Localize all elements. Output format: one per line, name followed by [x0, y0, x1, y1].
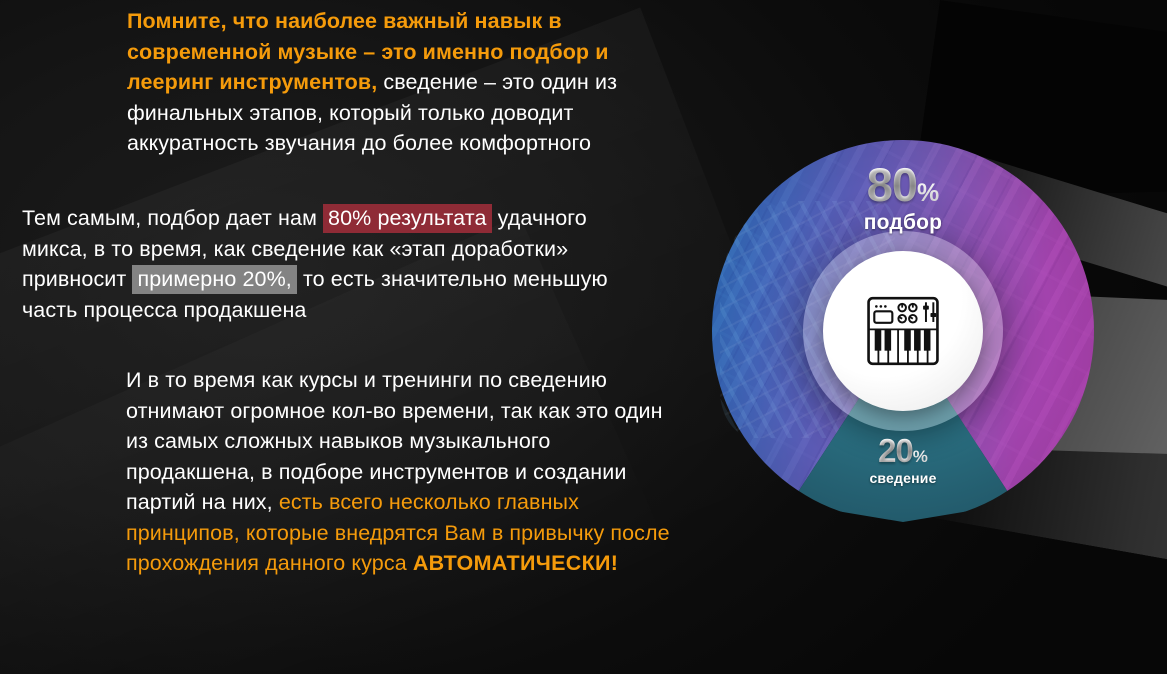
- text-column: Помните, что наиболее важный навык в сов…: [22, 0, 682, 674]
- paragraph-three-emphasis: АВТОМАТИЧЕСКИ!: [413, 551, 618, 575]
- paragraph-three: И в то время как курсы и тренинги по све…: [126, 365, 671, 579]
- highlight-20-percent: примерно 20%,: [132, 265, 296, 294]
- slide-canvas: Помните, что наиболее важный навык в сов…: [0, 0, 1167, 674]
- midi-keyboard-icon: [862, 290, 944, 372]
- highlight-80-percent: 80% результата: [323, 204, 491, 233]
- paragraph-one: Помните, что наиболее важный навык в сов…: [127, 6, 667, 159]
- pie-chart: 80% подбор 20% сведение: [712, 140, 1094, 522]
- pie-center-disc: [823, 251, 983, 411]
- paragraph-two: Тем самым, подбор дает нам 80% результат…: [22, 203, 642, 325]
- paragraph-two-before: Тем самым, подбор дает нам: [22, 206, 323, 230]
